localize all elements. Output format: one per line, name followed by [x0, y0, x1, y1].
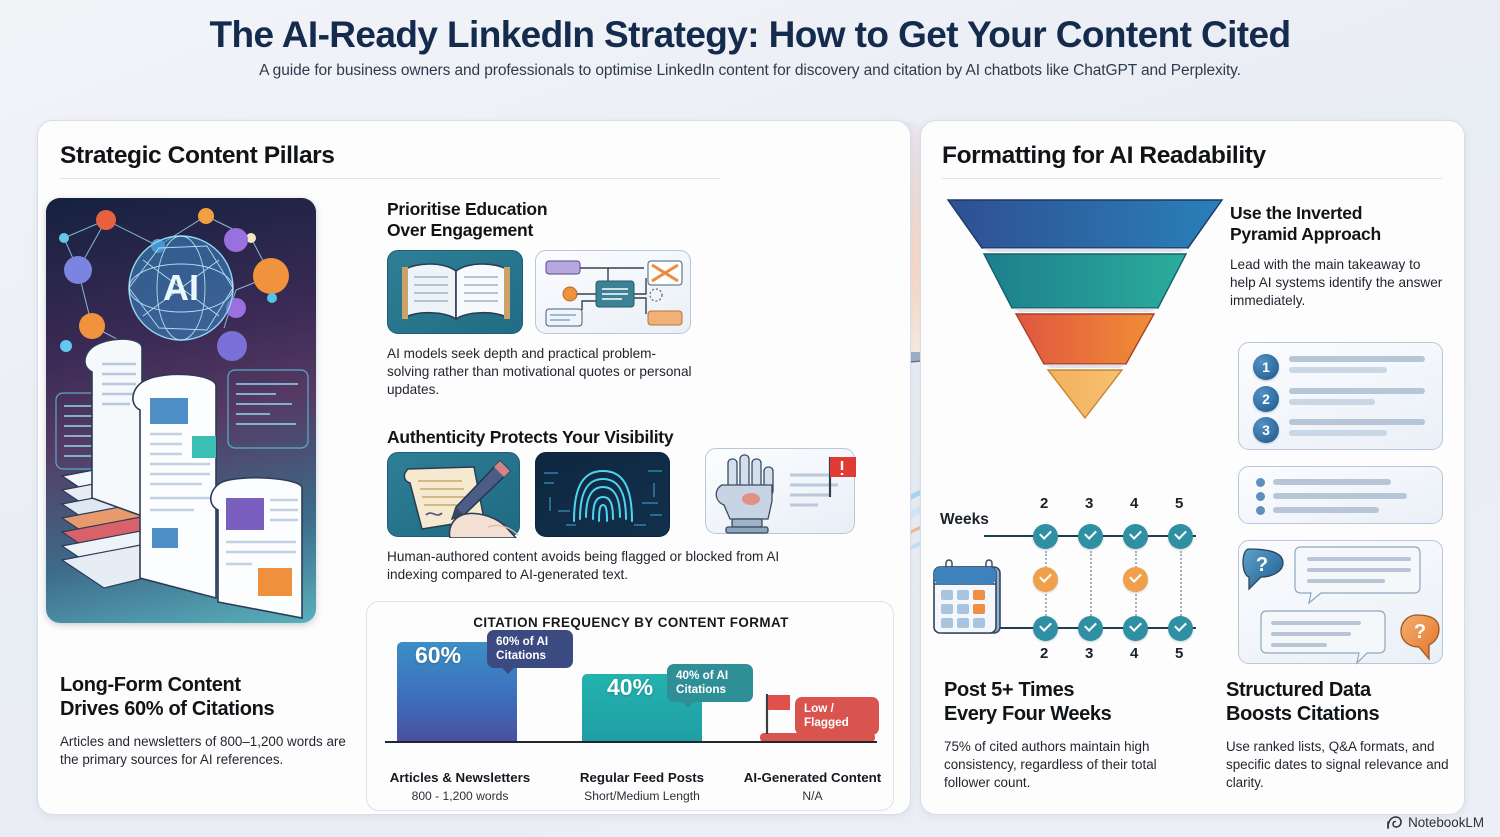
- page-title: The AI-Ready LinkedIn Strategy: How to G…: [0, 14, 1500, 55]
- week-top-2: 2: [1040, 495, 1048, 512]
- bar-value-regular: 40%: [607, 674, 653, 701]
- section-body-authenticity: Human-authored content avoids being flag…: [387, 548, 787, 584]
- header: The AI-Ready LinkedIn Strategy: How to G…: [0, 14, 1500, 80]
- fingerprint-icon: [535, 452, 670, 537]
- callout-text: 40% of AI Citations: [676, 669, 728, 696]
- skeleton-line: [1289, 399, 1375, 405]
- robot-hand-svg: [706, 449, 856, 535]
- section-heading-authenticity: Authenticity Protects Your Visibility: [387, 427, 787, 448]
- bulleted-list-card: [1238, 466, 1443, 524]
- callout-articles: 60% of AI Citations: [487, 630, 573, 668]
- callout-text: 60% of AI Citations: [496, 635, 548, 662]
- heading-line-1: Use the Inverted: [1230, 203, 1362, 223]
- bullet-dot: [1256, 492, 1265, 501]
- skeleton-line: [1289, 430, 1387, 436]
- bullet-dot: [1256, 478, 1265, 487]
- chart-sublabel-0: 800 - 1,200 words: [385, 789, 535, 803]
- check-top-week3: [1078, 524, 1103, 549]
- handwriting-icon: [387, 452, 520, 537]
- check-top-week4: [1123, 524, 1148, 549]
- funnel-svg: [930, 190, 1230, 420]
- check-top-week5: [1168, 524, 1193, 549]
- ai-sphere-label: AI: [163, 267, 199, 308]
- bullet-dot: [1256, 506, 1265, 515]
- open-book-svg: [388, 251, 524, 335]
- callout-text: Low / Flagged: [804, 702, 849, 729]
- right-panel-rule: [942, 178, 1442, 179]
- check-bottom-week5: [1168, 616, 1193, 641]
- week-bottom-4: 4: [1130, 645, 1138, 662]
- list-number-1: 1: [1253, 354, 1279, 380]
- notebooklm-spiral-icon: [1386, 816, 1402, 830]
- chart-category-1: Regular Feed Posts: [562, 770, 722, 786]
- heading-line-1: Post 5+ Times: [944, 679, 1074, 701]
- inverted-funnel-icon: [930, 190, 1230, 420]
- skeleton-line: [1273, 493, 1407, 499]
- check-bottom-week2: [1033, 616, 1058, 641]
- skeleton-line: [1273, 479, 1391, 485]
- heading-line-2: Boosts Citations: [1226, 703, 1379, 725]
- callout-ai-generated: Low / Flagged: [795, 697, 879, 735]
- red-flag-icon: [763, 692, 793, 734]
- skeleton-line: [1289, 388, 1425, 394]
- qa-format-card: ? ?: [1238, 540, 1443, 664]
- bottom-block-body-structured-data: Use ranked lists, Q&A formats, and speci…: [1226, 738, 1454, 792]
- chart-sublabel-2: N/A: [735, 789, 890, 803]
- chart-sublabel-1: Short/Medium Length: [562, 789, 722, 803]
- ai-network-documents-illustration: AI: [46, 198, 316, 623]
- section-heading-inverted-pyramid: Use the Inverted Pyramid Approach: [1230, 203, 1445, 246]
- skeleton-line: [1289, 356, 1425, 362]
- chart-category-2: AI-Generated Content: [735, 770, 890, 786]
- page-subtitle: A guide for business owners and professi…: [0, 62, 1500, 80]
- qa-svg: ? ?: [1239, 541, 1444, 665]
- week-bottom-2: 2: [1040, 645, 1048, 662]
- weeks-label: Weeks: [940, 511, 989, 529]
- watermark-label: NotebookLM: [1408, 815, 1484, 830]
- left-panel-title: Strategic Content Pillars: [60, 142, 335, 170]
- week-top-4: 4: [1130, 495, 1138, 512]
- workflow-svg: [536, 251, 692, 335]
- calendar-icon: [932, 558, 1012, 640]
- section-heading-prioritise-education: Prioritise Education Over Engagement: [387, 199, 637, 242]
- heading-line-2: Over Engagement: [387, 220, 533, 240]
- citation-frequency-chart: CITATION FREQUENCY BY CONTENT FORMAT 60%…: [366, 601, 894, 811]
- check-bottom-week3: [1078, 616, 1103, 641]
- check-mid-orange-1: [1033, 567, 1058, 592]
- heading-line-2: Every Four Weeks: [944, 703, 1111, 725]
- bottom-block-body-post-frequency: 75% of cited authors maintain high consi…: [944, 738, 1169, 792]
- chart-category-0: Articles & Newsletters: [385, 770, 535, 786]
- check-mid-orange-2: [1123, 567, 1148, 592]
- skeleton-line: [1289, 419, 1425, 425]
- bar-value-articles: 60%: [415, 642, 461, 669]
- heading-line-1: Long-Form Content: [60, 674, 241, 696]
- question-mark-orange: ?: [1414, 621, 1426, 643]
- check-top-week2: [1033, 524, 1058, 549]
- question-mark-blue: ?: [1256, 554, 1268, 576]
- handwriting-svg: [388, 453, 521, 538]
- infographic-root: The AI-Ready LinkedIn Strategy: How to G…: [0, 0, 1500, 837]
- heading-line-1: Structured Data: [1226, 679, 1371, 701]
- robot-hand-flag-icon: [705, 448, 855, 534]
- right-panel-title: Formatting for AI Readability: [942, 142, 1266, 170]
- week-bottom-5: 5: [1175, 645, 1183, 662]
- ai-illus-svg: AI: [46, 198, 316, 623]
- heading-line-2: Pyramid Approach: [1230, 224, 1381, 244]
- heading-line-2: Drives 60% of Citations: [60, 698, 274, 720]
- skeleton-line: [1273, 507, 1379, 513]
- heading-line-1: Prioritise Education: [387, 199, 547, 219]
- numbered-list-card: 1 2 3: [1238, 342, 1443, 450]
- week-bottom-3: 3: [1085, 645, 1093, 662]
- open-book-icon: [387, 250, 523, 334]
- workflow-diagram-icon: [535, 250, 691, 334]
- chart-axis-line: [385, 741, 877, 743]
- chart-title: CITATION FREQUENCY BY CONTENT FORMAT: [367, 615, 895, 630]
- fingerprint-svg: [536, 453, 671, 538]
- section-body-prioritise-education: AI models seek depth and practical probl…: [387, 345, 697, 399]
- bottom-block-body-long-form: Articles and newsletters of 800–1,200 wo…: [60, 733, 350, 769]
- skeleton-line: [1289, 367, 1387, 373]
- bottom-block-heading-post-frequency: Post 5+ Times Every Four Weeks: [944, 678, 1174, 726]
- bottom-block-heading-structured-data: Structured Data Boosts Citations: [1226, 678, 1461, 726]
- bottom-block-heading-long-form: Long-Form Content Drives 60% of Citation…: [60, 673, 360, 721]
- week-top-5: 5: [1175, 495, 1183, 512]
- week-top-3: 3: [1085, 495, 1093, 512]
- list-number-3: 3: [1253, 417, 1279, 443]
- callout-regular: 40% of AI Citations: [667, 664, 753, 702]
- check-bottom-week4: [1123, 616, 1148, 641]
- posting-frequency-timeline: Weeks 2 3 4 5 2 3 4 5: [932, 495, 1222, 675]
- watermark: NotebookLM: [1386, 815, 1484, 830]
- left-panel-rule: [60, 178, 720, 179]
- section-body-inverted-pyramid: Lead with the main takeaway to help AI s…: [1230, 256, 1448, 310]
- list-number-2: 2: [1253, 386, 1279, 412]
